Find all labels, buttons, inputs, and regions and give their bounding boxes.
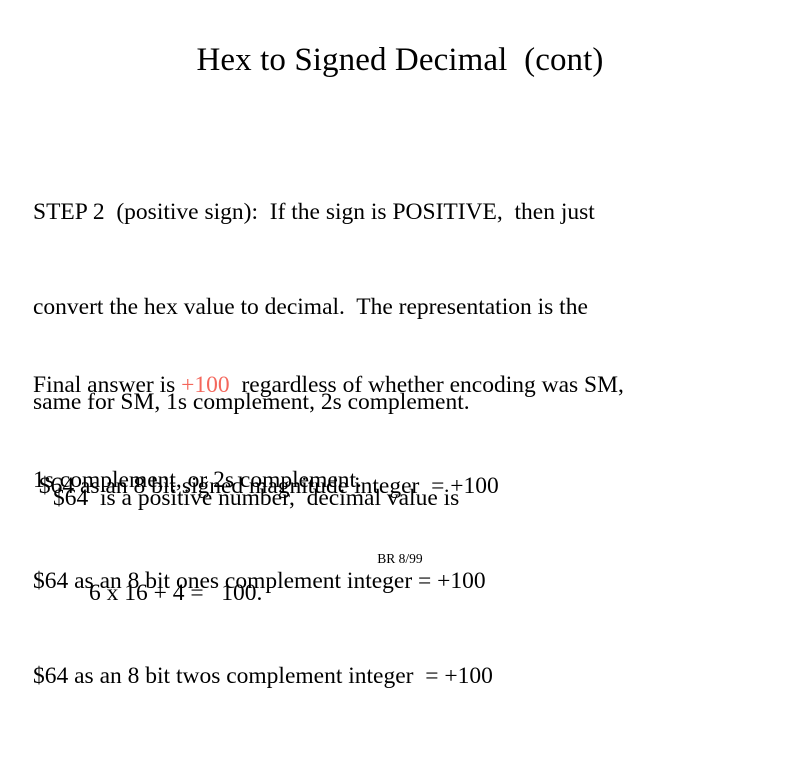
step2-line-1: STEP 2 (positive sign): If the sign is P… [33, 197, 763, 229]
encoding-results-block: $64 as an 8 bit signed magnitude integer… [33, 407, 763, 757]
final-answer-value: +100 [181, 372, 230, 398]
slide-footer: BR 8/99 [0, 550, 800, 568]
final-answer-line-1: Final answer is +100 regardless of wheth… [33, 370, 763, 402]
encoding-result-twos-complement: $64 as an 8 bit twos complement integer … [33, 661, 763, 693]
slide-canvas: Hex to Signed Decimal (cont) STEP 2 (pos… [0, 0, 800, 600]
encoding-result-signed-magnitude: $64 as an 8 bit signed magnitude integer… [33, 471, 763, 503]
final-answer-lead: Final answer is [33, 372, 181, 398]
encoding-result-ones-complement: $64 as an 8 bit ones complement integer … [33, 566, 763, 598]
page-title: Hex to Signed Decimal (cont) [0, 40, 800, 80]
final-answer-tail: regardless of whether encoding was SM, [230, 372, 624, 398]
